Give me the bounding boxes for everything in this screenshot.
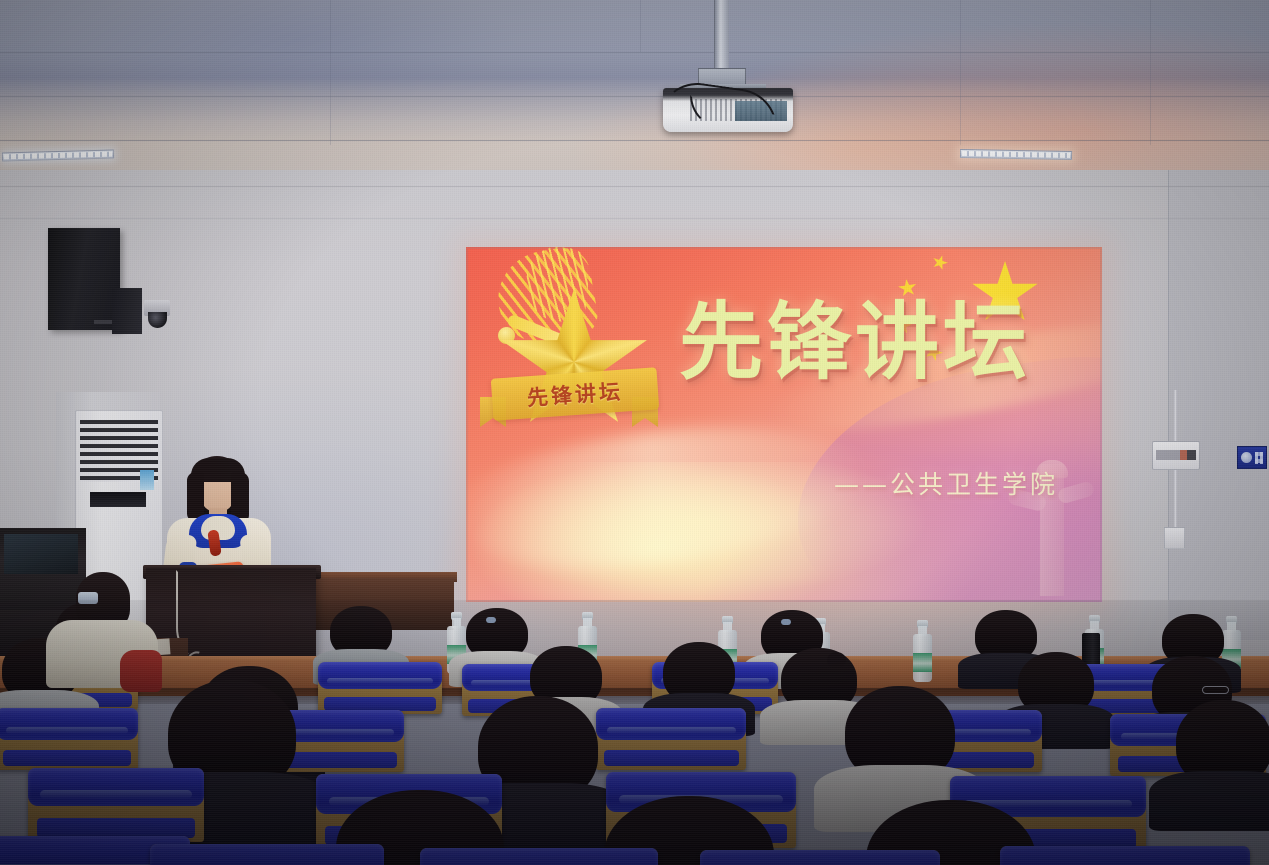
wall-seam (0, 186, 1269, 187)
ceiling-grid-line (640, 0, 641, 52)
wall-speaker-small (112, 288, 142, 334)
audience-person (466, 608, 528, 660)
ceiling-grid-line (960, 0, 961, 145)
ceiling-grid-line (330, 0, 331, 145)
audience-person (1018, 652, 1094, 716)
hair-clip-icon (78, 592, 98, 604)
wall-seam (0, 218, 1269, 219)
audience-section (0, 600, 1269, 865)
audience-person (330, 606, 392, 658)
audience-person (1176, 700, 1269, 786)
ac-display-panel[interactable] (90, 492, 146, 507)
lecture-hall-photo: 先锋讲坛 先锋讲坛 ——公共卫生学院 (0, 0, 1269, 865)
auditorium-seat[interactable] (596, 708, 746, 770)
ac-badge (140, 470, 154, 490)
ceiling-light-tint (0, 0, 1269, 185)
front-row-person (42, 572, 158, 682)
person-bag (120, 650, 162, 692)
junction-box (1164, 527, 1185, 549)
person-shoulders (1149, 771, 1269, 831)
ceiling-grid-line (0, 140, 1269, 141)
audience-person (845, 686, 955, 782)
screen-border (466, 247, 1102, 602)
hair-clip-icon (781, 619, 791, 624)
seat-cushion (28, 768, 204, 806)
seat-cushion (0, 708, 138, 740)
sign-pictogram-icon (1241, 452, 1252, 463)
seat-cushion (420, 848, 658, 865)
seat-pad (37, 818, 195, 837)
auditorium-seat[interactable] (318, 662, 442, 714)
auditorium-seat[interactable] (0, 708, 138, 770)
wall-sign (1237, 446, 1267, 469)
glasses-icon (1202, 686, 1229, 694)
seat-pad (604, 750, 739, 766)
wall-speaker (48, 228, 120, 330)
hair-clip-icon (486, 617, 496, 622)
auditorium-seat[interactable] (1000, 846, 1250, 865)
seat-pad (3, 750, 131, 766)
auditorium-seat[interactable] (420, 848, 658, 865)
projection-screen: 先锋讲坛 先锋讲坛 ——公共卫生学院 (466, 247, 1102, 602)
electrical-conduit (1174, 390, 1177, 442)
projector-mount-pole (714, 0, 729, 72)
auditorium-seat[interactable] (700, 850, 940, 865)
seat-cushion (596, 708, 746, 740)
ceiling-grid-line (1150, 0, 1151, 145)
seat-cushion (1000, 846, 1250, 865)
seat-pad (324, 697, 436, 711)
seat-cushion (150, 844, 384, 865)
sign-text-block (1255, 452, 1263, 464)
audience-person (663, 642, 735, 704)
ceiling-grid-line (0, 52, 1269, 53)
seat-cushion (318, 662, 442, 689)
seat-cushion (700, 850, 940, 865)
ceiling-grid-line (0, 96, 1269, 97)
equipment-cabinet-glass (4, 534, 78, 574)
auditorium-seat[interactable] (150, 844, 384, 865)
auditorium-seat[interactable] (28, 768, 204, 842)
breaker-row[interactable] (1156, 450, 1196, 460)
ceiling-light-right (960, 149, 1072, 160)
electrical-conduit (1174, 470, 1177, 528)
